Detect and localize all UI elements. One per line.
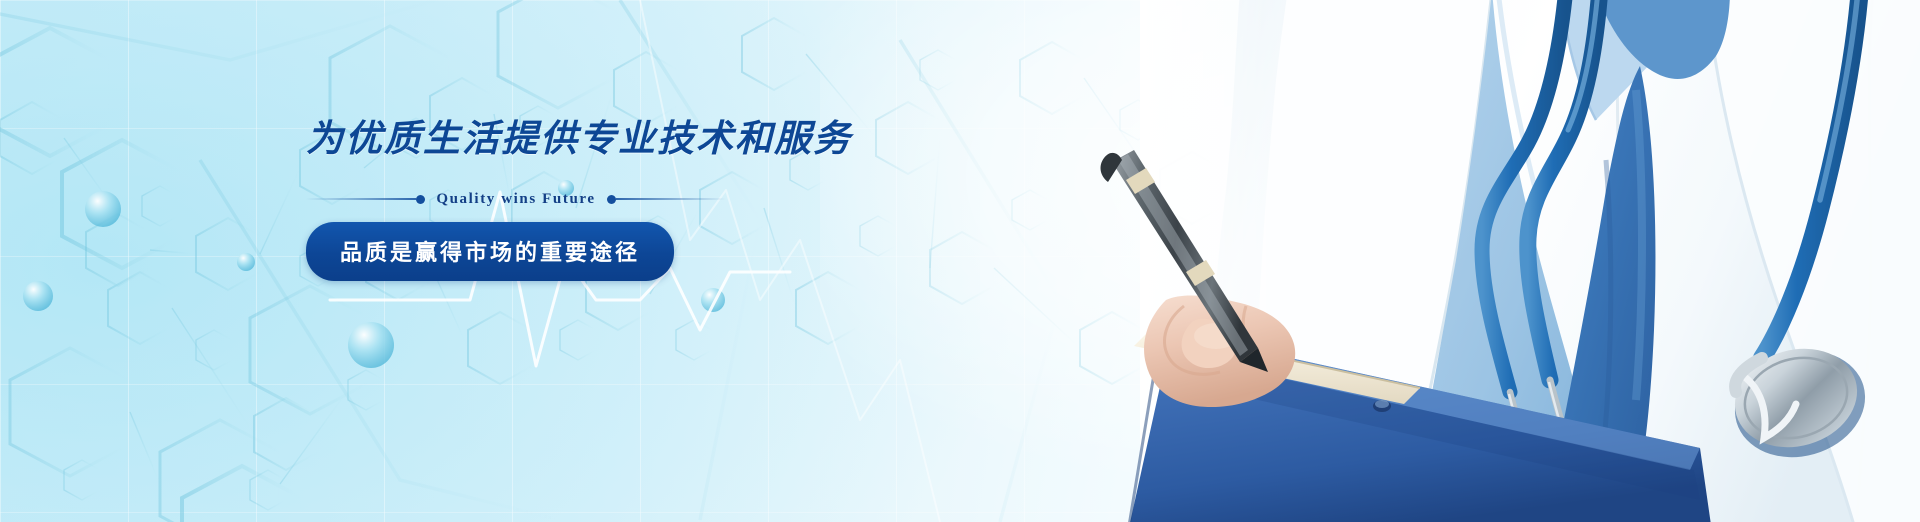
writing-pen [1101, 150, 1268, 372]
divider-rule-right [616, 198, 726, 200]
english-tagline: Quality wins Future [425, 191, 606, 208]
banner-copy: 为优质生活提供专业技术和服务 Quality wins Future 品质是赢得… [306, 118, 1006, 281]
page-title: 为优质生活提供专业技术和服务 [306, 118, 1006, 161]
hand [1144, 296, 1295, 408]
clipboard [1128, 330, 1712, 522]
divider-rule-left [306, 198, 416, 200]
tagline-divider: Quality wins Future [306, 191, 726, 208]
divider-dot-right [607, 195, 616, 204]
slogan-pill-button[interactable]: 品质是赢得市场的重要途径 [306, 222, 674, 281]
doctor-figure [1140, 0, 1920, 522]
hero-banner: 为优质生活提供专业技术和服务 Quality wins Future 品质是赢得… [0, 0, 1920, 522]
stethoscope-chestpiece [1722, 335, 1878, 472]
divider-dot-left [416, 195, 425, 204]
